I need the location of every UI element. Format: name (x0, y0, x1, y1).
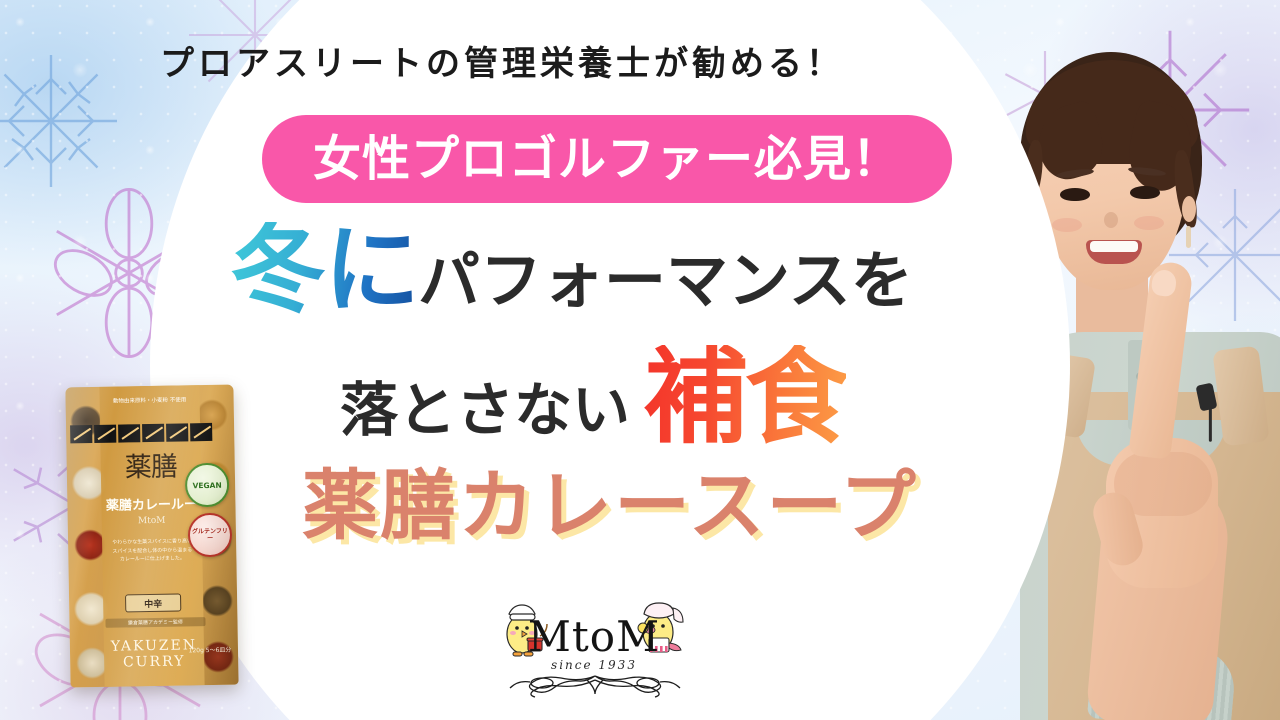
no-fish-icon (118, 424, 140, 442)
nose (1104, 212, 1118, 228)
logo-wordmark: MtoM (488, 616, 700, 658)
headline-line-4: 薬膳カレースープ (250, 468, 970, 544)
no-egg-icon (94, 425, 116, 443)
headline-accent-supplement: 補食 (644, 345, 846, 451)
product-headline: 薬膳カレースープ (302, 461, 918, 550)
eye-right (1130, 186, 1160, 199)
no-use-icon-row (70, 423, 230, 444)
brand-en-line2: CURRY (123, 654, 186, 671)
kicker-text: プロアスリートの管理栄養士が勧める！ (160, 36, 860, 85)
promo-banner: プロアスリートの管理栄養士が勧める！ 女性プロゴルファー必見！ 冬に パフォーマ… (0, 0, 1280, 720)
ornamental-flourish-icon (502, 666, 688, 705)
no-meat-icon (70, 425, 92, 443)
eye-left (1060, 188, 1090, 201)
headline-line-2: 冬に パフォーマンスを (230, 222, 930, 318)
teeth (1090, 241, 1138, 252)
no-dairy-icon (142, 424, 164, 442)
cheek-right (1134, 216, 1164, 230)
ear (1182, 196, 1196, 222)
package-brand-small: MtoM (112, 515, 192, 526)
headline-accent-winter: 冬に (230, 222, 418, 318)
brand-en-line1: YAKUZEN (111, 637, 198, 655)
pill-label: 女性プロゴルファー必見！ (313, 135, 901, 183)
no-shrimp-icon (190, 423, 212, 441)
package-description: やわらかな生薬スパイスに香り高いスパイスを配合し体の中から温まるカレールーに仕上… (112, 537, 192, 564)
no-wheat-icon (166, 423, 188, 441)
earring (1186, 226, 1191, 248)
package-seal-kanji: 薬膳 (111, 453, 191, 481)
highlight-pill: 女性プロゴルファー必見！ (262, 115, 952, 203)
headline-performance: パフォーマンスを (418, 250, 913, 318)
spice-level-badge: 中辛 (125, 594, 181, 613)
mouth-smiling (1086, 240, 1142, 264)
mtom-logo: MtoM since 1933 (488, 592, 700, 696)
package-weight: 120g 5〜6皿分 (188, 646, 232, 656)
product-package: 動物由来原料・小麦粉 不使用 薬膳 薬膳カレールー MtoM やわらかな生薬スパ… (65, 385, 238, 688)
cheek-left (1052, 218, 1082, 232)
headline-line-3: 落とさない 補食 (340, 345, 960, 451)
package-academy-credit: 鎌倉薬膳アカデミー監修 (105, 617, 205, 628)
headline-dont-drop: 落とさない (340, 381, 644, 451)
